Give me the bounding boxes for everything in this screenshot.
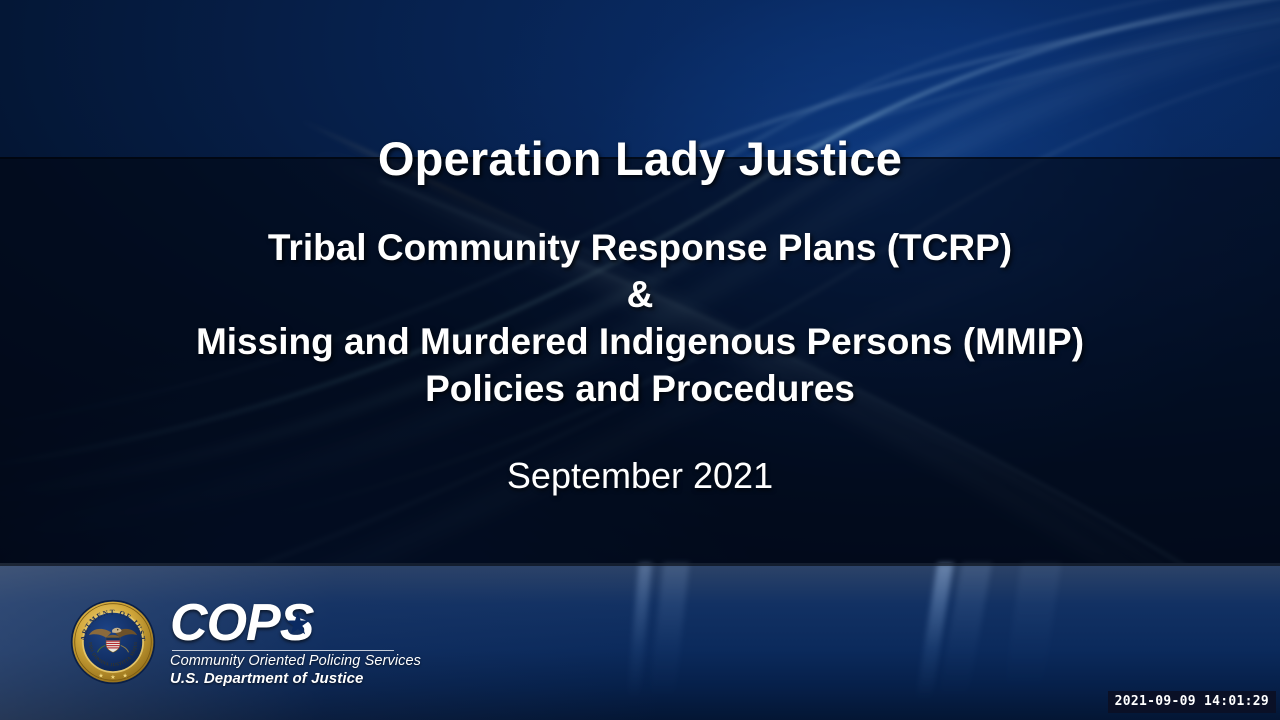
doj-seal-icon: DEPARTMENT OF JUSTICE QUI PRO DOMINA JUS… <box>70 599 156 685</box>
slide-date: September 2021 <box>507 455 773 497</box>
cops-letter-c: C <box>170 600 207 648</box>
slide-title: Operation Lady Justice <box>378 134 902 183</box>
cops-letter-o: O <box>207 600 246 648</box>
svg-text:★: ★ <box>98 673 103 680</box>
cops-agency-line: U.S. Department of Justice <box>170 670 421 687</box>
cops-tagline: Community Oriented Policing Services <box>170 653 421 669</box>
subtitle-line-policies: Policies and Procedures <box>425 368 855 409</box>
cops-letter-s: S★ <box>280 600 314 648</box>
svg-text:★: ★ <box>110 674 115 681</box>
presentation-slide: Operation Lady Justice Tribal Community … <box>0 0 1280 720</box>
cops-wordmark: COPS★ Community Oriented Policing Servic… <box>170 598 421 687</box>
cops-letters: COPS★ <box>170 600 421 648</box>
cops-letter-p: P <box>246 600 280 648</box>
subtitle-line-tcrp: Tribal Community Response Plans (TCRP) <box>268 227 1012 268</box>
subtitle-ampersand: & <box>196 272 1084 319</box>
recording-timestamp: 2021-09-09 14:01:29 <box>1108 691 1276 713</box>
slide-subtitle: Tribal Community Response Plans (TCRP) &… <box>196 225 1084 413</box>
svg-text:★: ★ <box>122 673 127 680</box>
cops-doj-logo-lockup: DEPARTMENT OF JUSTICE QUI PRO DOMINA JUS… <box>70 598 421 687</box>
subtitle-line-mmip: Missing and Murdered Indigenous Persons … <box>196 321 1084 362</box>
cops-star-icon: ★ <box>286 611 309 638</box>
